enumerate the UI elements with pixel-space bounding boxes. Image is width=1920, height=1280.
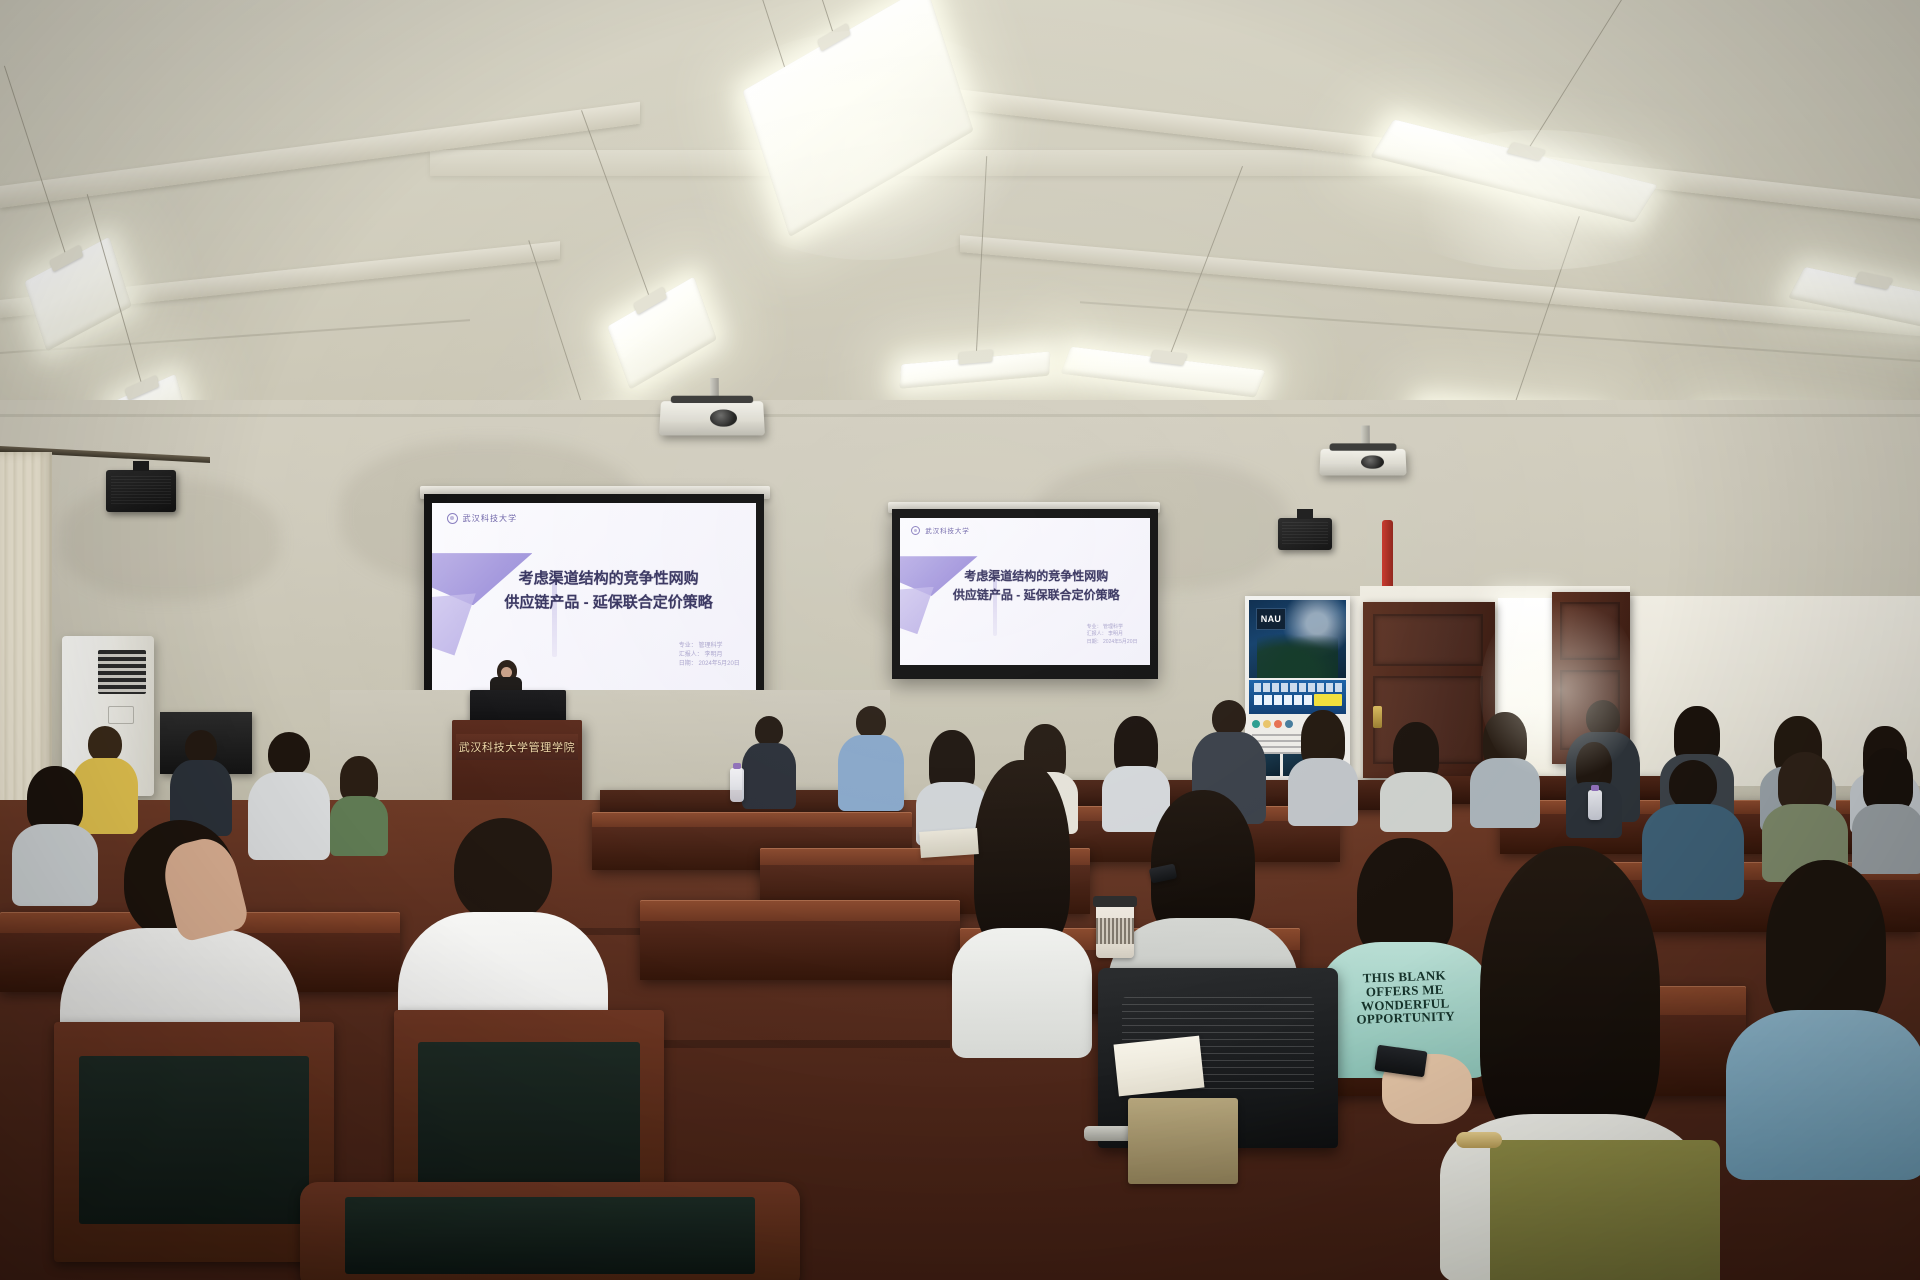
person-head — [185, 730, 217, 764]
slide-title-line-1: 考虑渠道结构的竞争性网购 — [933, 567, 1141, 586]
ceiling-projector-front — [659, 401, 765, 435]
person-head — [1212, 700, 1246, 736]
desk-row-2-mid — [640, 900, 960, 980]
poster-foliage — [1257, 633, 1338, 678]
person-torso — [1726, 1010, 1920, 1180]
person-torso — [952, 928, 1092, 1058]
poster-headline-line-1 — [1254, 683, 1342, 692]
projector-mount-arm — [1329, 443, 1397, 450]
person-head — [268, 732, 310, 776]
chair-back-cushion — [418, 1042, 639, 1203]
audience-member — [330, 756, 388, 852]
slide-logo-text: 武汉科技大学 — [463, 513, 518, 524]
slide-meta-line-3: 日期： 2024年5月20日 — [679, 660, 740, 669]
person-hair — [1863, 748, 1913, 812]
person-hair — [1778, 752, 1832, 812]
audience-member — [742, 716, 796, 808]
slide-logo: 武汉科技大学 — [911, 525, 969, 535]
desk-top — [640, 900, 960, 921]
person-hair — [974, 760, 1070, 950]
speaker-bracket — [1297, 509, 1313, 519]
audience-member — [1470, 712, 1540, 824]
speaker-bracket — [133, 461, 149, 471]
door-panel — [1560, 602, 1620, 660]
person-hair — [1480, 846, 1660, 1146]
wall-speaker-right — [1278, 518, 1332, 550]
slide-title: 考虑渠道结构的竞争性网购 供应链产品 - 延保联合定价策略 — [474, 567, 743, 616]
audience-member — [1288, 710, 1358, 822]
university-crest-icon — [911, 526, 920, 535]
slide-meta-line-2: 汇报人： 李明月 — [679, 651, 740, 660]
ceiling-projector-rear — [1319, 449, 1406, 476]
wooden-chair[interactable] — [300, 1182, 800, 1280]
person-head — [1586, 700, 1620, 736]
person-head — [454, 818, 552, 922]
cup-sleeve — [1096, 918, 1134, 944]
desk-front — [640, 921, 960, 980]
person-torso — [1470, 758, 1540, 828]
window-curtain[interactable] — [0, 452, 52, 812]
poster-highlight — [1314, 694, 1342, 706]
right-projection-screen: 武汉科技大学 考虑渠道结构的竞争性网购 供应链产品 - 延保联合定价策略 专业：… — [892, 509, 1158, 679]
audience-member — [170, 730, 232, 832]
bottle-cap — [733, 763, 741, 769]
audience-member — [1380, 722, 1452, 828]
chair-back-cushion — [79, 1056, 309, 1224]
audience-member-teal-top — [1726, 860, 1920, 1170]
person-hair — [1766, 860, 1886, 1030]
wooden-chair[interactable] — [54, 1022, 334, 1262]
projector-lens-icon — [710, 409, 737, 427]
speaker-grille — [1282, 522, 1328, 545]
person-torso — [838, 735, 904, 811]
slide-logo-text: 武汉科技大学 — [925, 525, 969, 535]
slide-meta-line-1: 专业： 管理科学 — [679, 642, 740, 651]
person-hair — [1357, 838, 1453, 958]
projector-mount-arm — [671, 396, 753, 403]
slide-title-line-1: 考虑渠道结构的竞争性网购 — [474, 567, 743, 591]
audience-member — [838, 706, 904, 810]
olive-skirt — [1490, 1140, 1720, 1280]
slide-title-line-2: 供应链产品 - 延保联合定价策略 — [474, 591, 743, 615]
notebook[interactable] — [1114, 1036, 1205, 1097]
person-head — [856, 706, 886, 738]
ceiling-beam — [960, 235, 1920, 337]
university-crest-icon — [447, 513, 458, 524]
person-torso — [330, 796, 388, 856]
person-torso — [1380, 772, 1452, 832]
poster-dot-icon — [1274, 720, 1282, 728]
slide-title: 考虑渠道结构的竞争性网购 供应链产品 - 延保联合定价策略 — [933, 567, 1141, 606]
cup-lid — [1093, 896, 1137, 907]
poster-brand-badge: NAU — [1256, 608, 1286, 630]
person-torso — [1288, 758, 1358, 826]
slide-meta: 专业： 管理科学 汇报人： 李明月 日期： 2024年5月20日 — [1087, 624, 1138, 647]
person-head — [1669, 760, 1717, 810]
water-bottle[interactable] — [730, 768, 744, 802]
slide-meta-line-3: 日期： 2024年5月20日 — [1087, 639, 1138, 647]
slide-surface: 武汉科技大学 考虑渠道结构的竞争性网购 供应链产品 - 延保联合定价策略 专业：… — [900, 518, 1150, 665]
slide-meta: 专业： 管理科学 汇报人： 李明月 日期： 2024年5月20日 — [679, 642, 740, 669]
slide-meta-line-2: 汇报人： 李明月 — [1087, 631, 1138, 639]
speaker-grille — [111, 476, 171, 506]
handbag[interactable] — [1128, 1098, 1238, 1184]
ac-vent-grille — [98, 650, 146, 694]
projector-lens-icon — [1361, 455, 1384, 469]
ac-control-panel[interactable] — [108, 706, 134, 724]
water-bottle[interactable] — [1588, 790, 1602, 820]
coffee-cup[interactable] — [1096, 900, 1134, 958]
person-head — [755, 716, 783, 746]
wall-speaker-left — [106, 470, 176, 512]
chair-back-cushion — [345, 1197, 755, 1274]
bracelet — [1456, 1132, 1502, 1148]
slide-surface: 武汉科技大学 考虑渠道结构的竞争性网购 供应链产品 - 延保联合定价策略 专业：… — [432, 503, 756, 696]
left-projection-screen: 武汉科技大学 考虑渠道结构的竞争性网购 供应链产品 - 延保联合定价策略 专业：… — [424, 494, 764, 710]
slide-title-line-2: 供应链产品 - 延保联合定价策略 — [933, 586, 1141, 605]
door-panel — [1373, 614, 1483, 666]
handout-paper[interactable] — [919, 828, 979, 858]
bottle-cap — [1591, 785, 1599, 791]
wall-trim-line — [0, 414, 1920, 417]
desk-top — [592, 812, 912, 827]
person-head — [88, 726, 122, 762]
audience-member — [1852, 748, 1920, 870]
person-torso — [742, 743, 796, 809]
audience-member-foreground-center — [952, 760, 1092, 1050]
ceiling-beam — [430, 150, 1490, 176]
lecture-hall-photo: 武汉科技大学 考虑渠道结构的竞争性网购 供应链产品 - 延保联合定价策略 专业：… — [0, 0, 1920, 1280]
lectern-sign: 武汉科技大学管理学院 — [456, 734, 578, 760]
poster-photo: NAU — [1249, 600, 1346, 678]
slide-logo: 武汉科技大学 — [447, 513, 518, 524]
